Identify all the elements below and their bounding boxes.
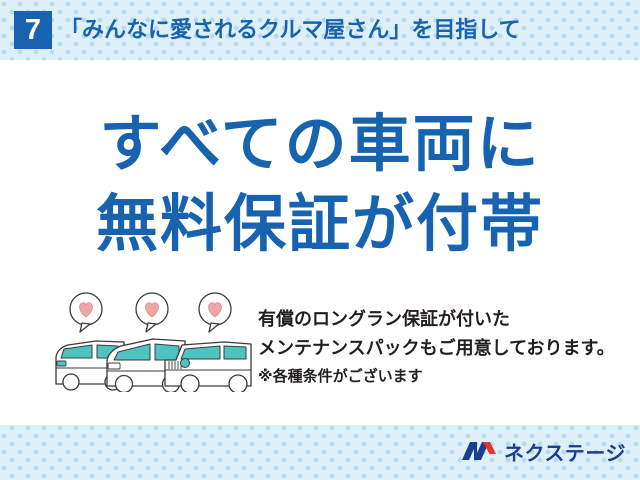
body-line-1: 有償のロングラン保証が付いた bbox=[258, 305, 628, 334]
nextage-n-logo-icon bbox=[461, 439, 497, 463]
headline-line-1: すべての車両に bbox=[0, 105, 640, 185]
section-number-badge: 7 bbox=[14, 11, 52, 49]
header-band: 7 「みんなに愛されるクルマ屋さん」を目指して bbox=[0, 0, 640, 60]
brand-logo: ネクステージ bbox=[461, 437, 626, 465]
headline-line-2: 無料保証が付帯 bbox=[0, 185, 640, 265]
header-title: 「みんなに愛されるクルマ屋さん」を目指して bbox=[60, 13, 521, 47]
cars-illustration bbox=[52, 292, 257, 392]
body-line-2: メンテナンスパックもご用意しております。 bbox=[258, 334, 628, 363]
brand-name: ネクステージ bbox=[504, 437, 626, 466]
advertisement-banner: 7 「みんなに愛されるクルマ屋さん」を目指して すべての車両に 無料保証が付帯 bbox=[0, 0, 640, 480]
body-copy-block: 有償のロングラン保証が付いた メンテナンスパックもご用意しております。 ※各種条… bbox=[258, 305, 628, 390]
body-line-note: ※各種条件がございます bbox=[258, 363, 628, 390]
headline-block: すべての車両に 無料保証が付帯 bbox=[0, 105, 640, 265]
content-panel: すべての車両に 無料保証が付帯 bbox=[0, 60, 640, 425]
